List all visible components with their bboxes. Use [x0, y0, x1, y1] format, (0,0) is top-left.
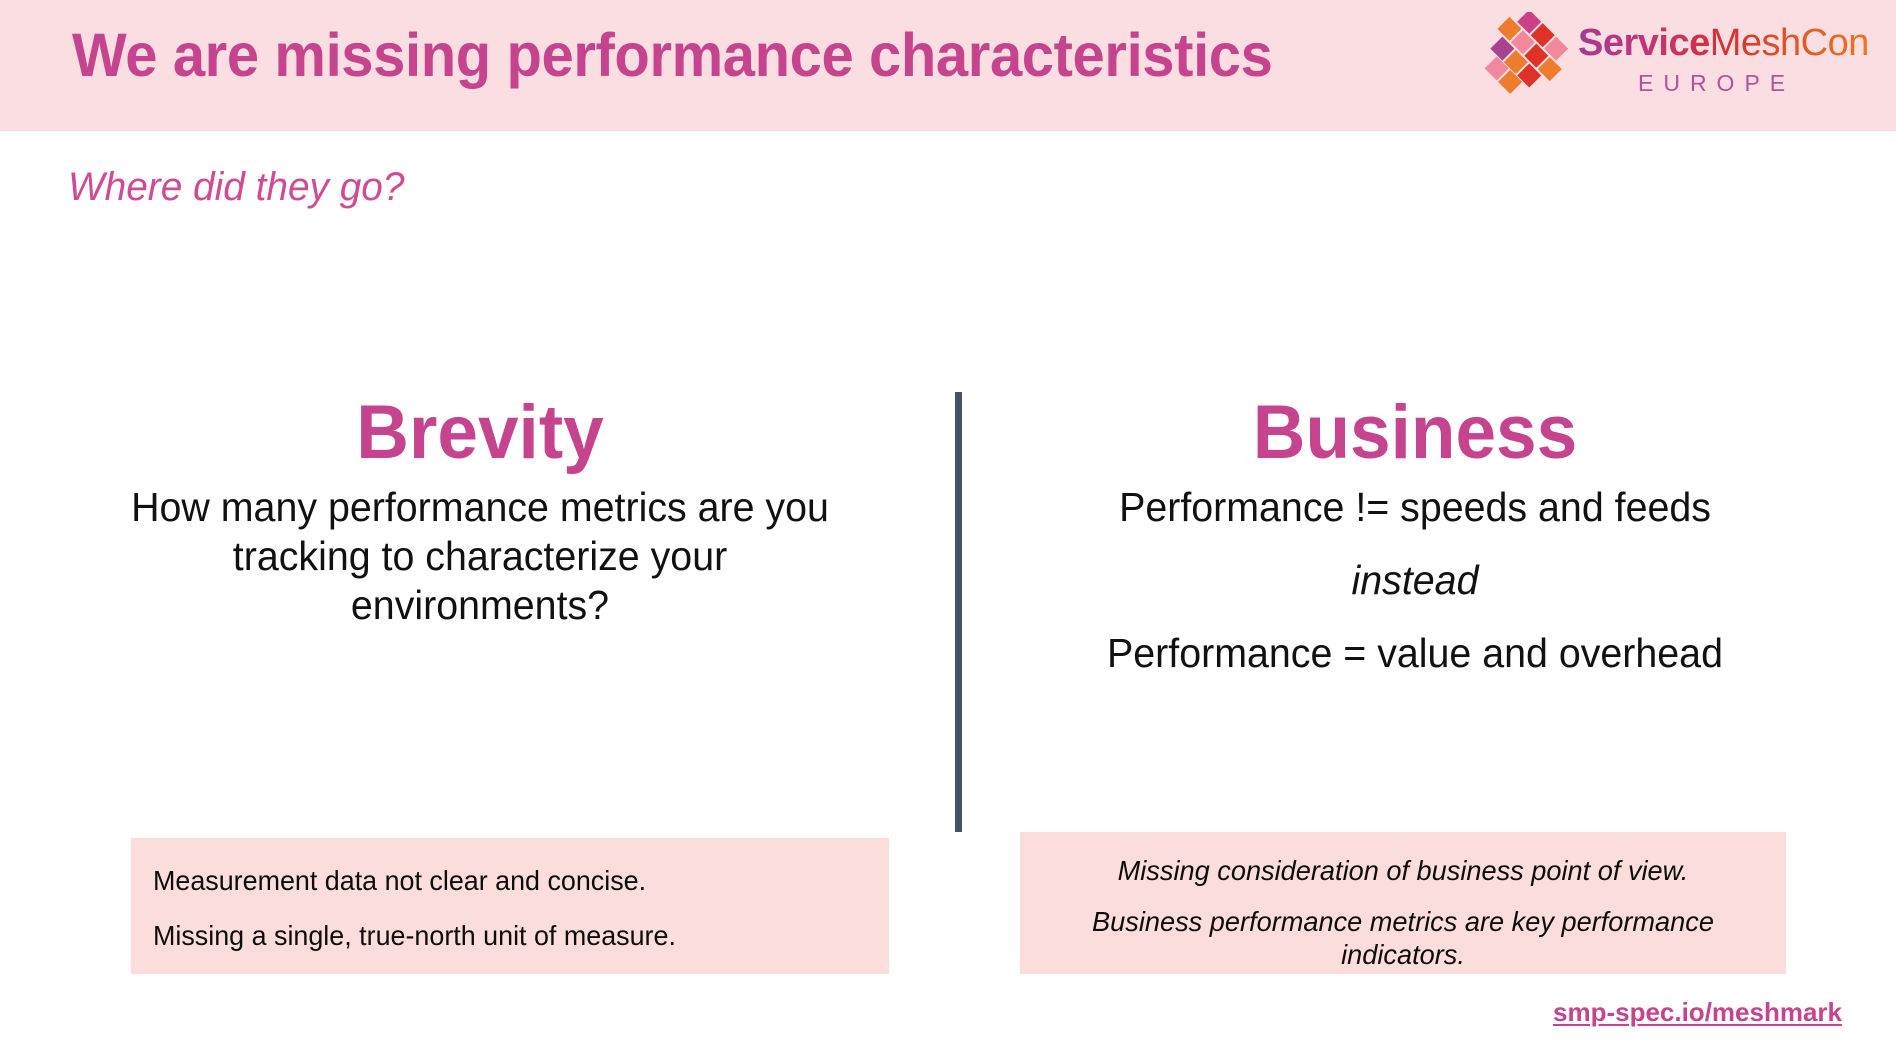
column-divider — [955, 392, 962, 832]
column-business-body-line-3: Performance = value and overhead — [1042, 629, 1789, 678]
callout-business: Missing consideration of business point … — [1020, 832, 1786, 974]
brand-wordmark: ServiceMeshCon — [1578, 22, 1869, 65]
servicemeshcon-diamond-mesh-icon — [1482, 12, 1568, 98]
column-business: Business Performance != speeds and feeds… — [1020, 390, 1810, 703]
column-business-body: Performance != speeds and feeds instead … — [1036, 483, 1794, 679]
column-brevity: Brevity How many performance metrics are… — [90, 390, 870, 637]
column-brevity-heading: Brevity — [106, 390, 855, 475]
callout-brevity: Measurement data not clear and concise. … — [131, 838, 889, 974]
brand-wordmark-service: Service — [1578, 22, 1710, 64]
callout-business-line-1: Missing consideration of business point … — [1061, 854, 1746, 887]
brand-wordmark-meshcon: MeshCon — [1710, 22, 1869, 64]
column-business-body-line-2: instead — [1042, 556, 1789, 605]
column-business-heading: Business — [1036, 390, 1794, 475]
page-title: We are missing performance characteristi… — [72, 20, 1272, 90]
callout-brevity-line-2: Missing a single, true-north unit of mea… — [153, 919, 838, 952]
column-brevity-body: How many performance metrics are you tra… — [106, 483, 855, 631]
column-business-body-line-1: Performance != speeds and feeds — [1042, 483, 1789, 532]
column-brevity-body-line: How many performance metrics are you tra… — [131, 483, 830, 631]
slide-subtitle: Where did they go? — [68, 165, 404, 210]
callout-brevity-line-1: Measurement data not clear and concise. — [153, 864, 838, 897]
footer-spec-link[interactable]: smp-spec.io/meshmark — [1553, 997, 1842, 1028]
servicemeshcon-logo: ServiceMeshCon EUROPE — [1470, 8, 1880, 120]
callout-business-line-2: Business performance metrics are key per… — [1061, 905, 1746, 971]
brand-region-label: EUROPE — [1638, 70, 1795, 97]
